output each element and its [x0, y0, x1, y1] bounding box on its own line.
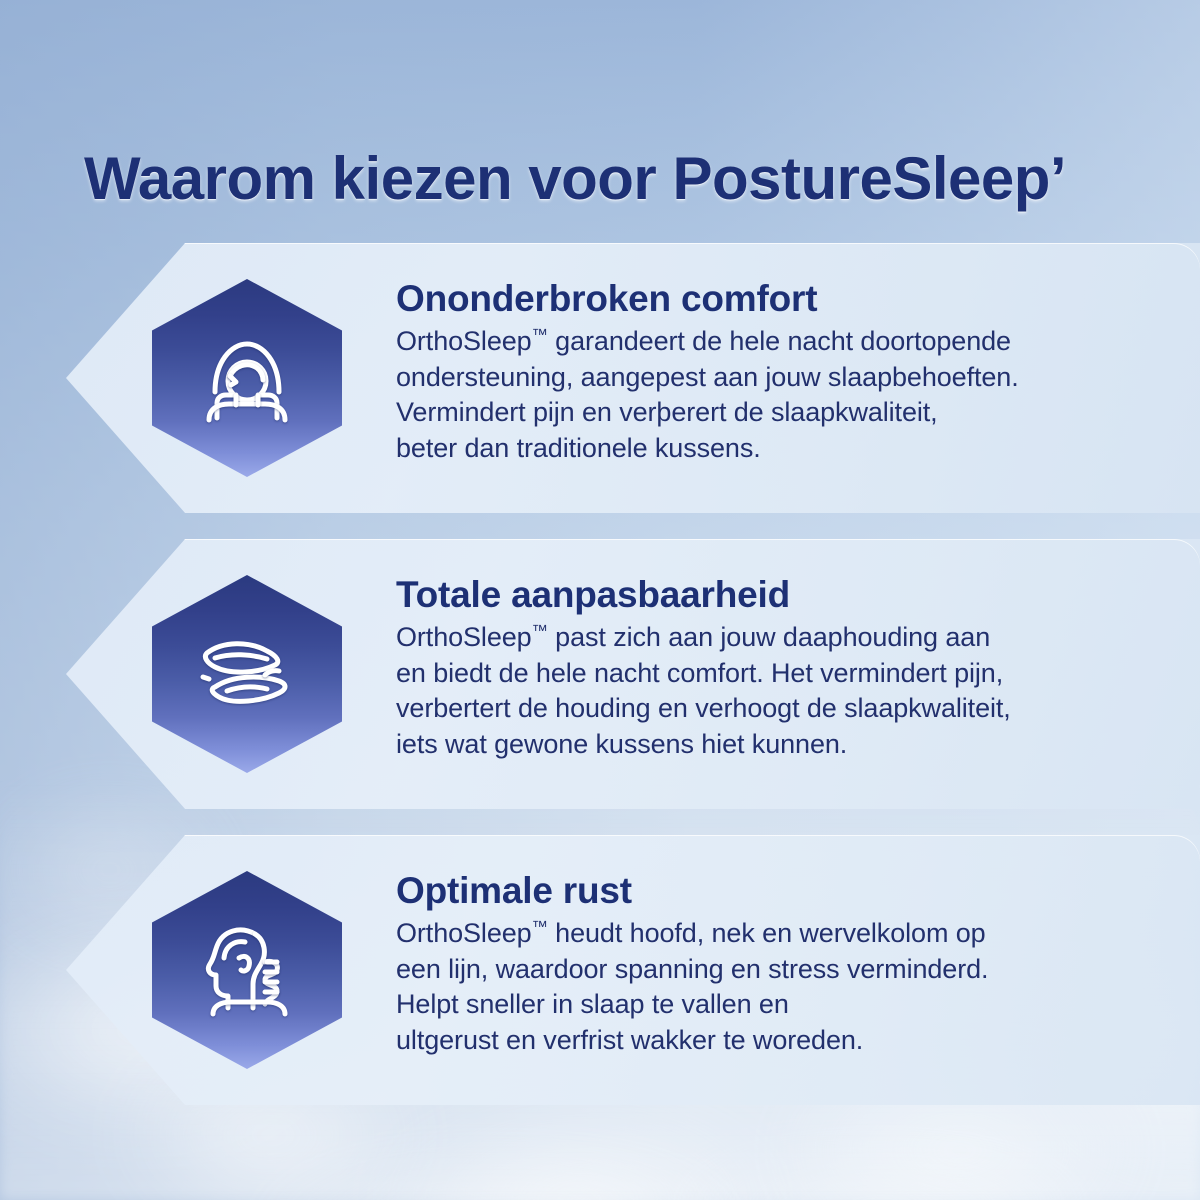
head-profile-with-spine-icon [152, 871, 342, 1069]
feature-card-optimale-rust: Optimale rust OrthoSleep™ heudt hoofd, n… [66, 835, 1200, 1105]
layered-adaptive-leaves-icon [152, 575, 342, 773]
trademark-symbol: ™ [532, 918, 548, 936]
card-heading: Totale aanpasbaarheid [396, 575, 1120, 614]
page-title: Waarom kiezen voor PostureSleep’ [84, 144, 1066, 213]
card-body-text: OrthoSleep™ past zich aan jouw daaphoudi… [396, 620, 1120, 763]
person-sleeping-on-pillow-icon [152, 279, 342, 477]
card-text-block: Optimale rust OrthoSleep™ heudt hoofd, n… [396, 871, 1120, 1059]
card-body-text: OrthoSleep™ heudt hoofd, nek en wervelko… [396, 916, 1120, 1059]
card-text-block: Ononderbroken comfort OrthoSleep™ garand… [396, 279, 1120, 467]
trademark-symbol: ™ [532, 622, 548, 640]
card-text-block: Totale aanpasbaarheid OrthoSleep™ past z… [396, 575, 1120, 763]
card-heading: Ononderbroken comfort [396, 279, 1120, 318]
feature-card-totale-aanpasbaarheid: Totale aanpasbaarheid OrthoSleep™ past z… [66, 539, 1200, 809]
card-heading: Optimale rust [396, 871, 1120, 910]
feature-card-ononderbroken-comfort: Ononderbroken comfort OrthoSleep™ garand… [66, 243, 1200, 513]
infographic-stage: Waarom kiezen voor PostureSleep’ [0, 0, 1200, 1200]
trademark-symbol: ™ [532, 326, 548, 344]
card-body-text: OrthoSleep™ garandeert de hele nacht doo… [396, 324, 1120, 467]
